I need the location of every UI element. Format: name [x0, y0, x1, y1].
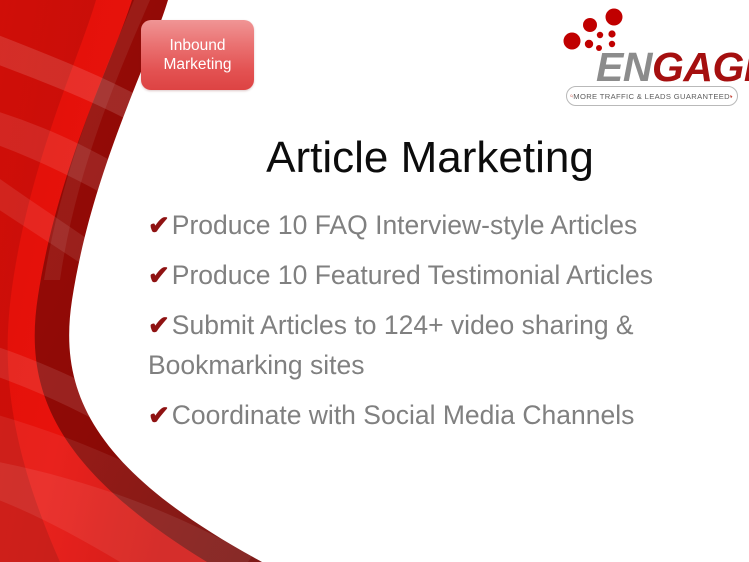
page-title: Article Marketing [150, 132, 710, 184]
inbound-marketing-badge[interactable]: Inbound Marketing [141, 20, 254, 90]
logo-tagline-text: MORE TRAFFIC & LEADS GUARANTEED [573, 92, 730, 101]
badge-line-2: Marketing [163, 55, 231, 74]
logo-word-en: EN [596, 44, 652, 90]
logo-word-gage: GAGE [652, 44, 749, 90]
list-item: ✔Coordinate with Social Media Channels [148, 395, 714, 435]
engage-logo[interactable]: ENGAGE MORE TRAFFIC & LEADS GUARANTEED [562, 8, 742, 104]
cursor-arrow-icon [730, 90, 733, 103]
swoosh-inner-band [0, 0, 96, 562]
list-item-label: Produce 10 Featured Testimonial Articles [172, 260, 653, 290]
list-item-label: Submit Articles to 124+ video sharing & … [148, 310, 634, 380]
list-item: ✔Produce 10 Featured Testimonial Article… [148, 255, 714, 295]
check-icon: ✔ [148, 205, 170, 245]
logo-wordmark: ENGAGE [596, 46, 749, 88]
list-item: ✔Submit Articles to 124+ video sharing &… [148, 305, 714, 385]
list-item: ✔Produce 10 FAQ Interview-style Articles [148, 205, 714, 245]
bullet-list: ✔Produce 10 FAQ Interview-style Articles… [148, 205, 714, 445]
check-icon: ✔ [148, 255, 170, 295]
list-item-label: Produce 10 FAQ Interview-style Articles [172, 210, 637, 240]
check-icon: ✔ [148, 395, 170, 435]
check-icon: ✔ [148, 305, 170, 345]
list-item-label: Coordinate with Social Media Channels [172, 400, 635, 430]
badge-line-1: Inbound [169, 36, 225, 55]
logo-tagline-pill: MORE TRAFFIC & LEADS GUARANTEED [566, 86, 738, 106]
slide-canvas: Inbound Marketing ENGAGE MORE TRAFFIC & … [0, 0, 749, 562]
